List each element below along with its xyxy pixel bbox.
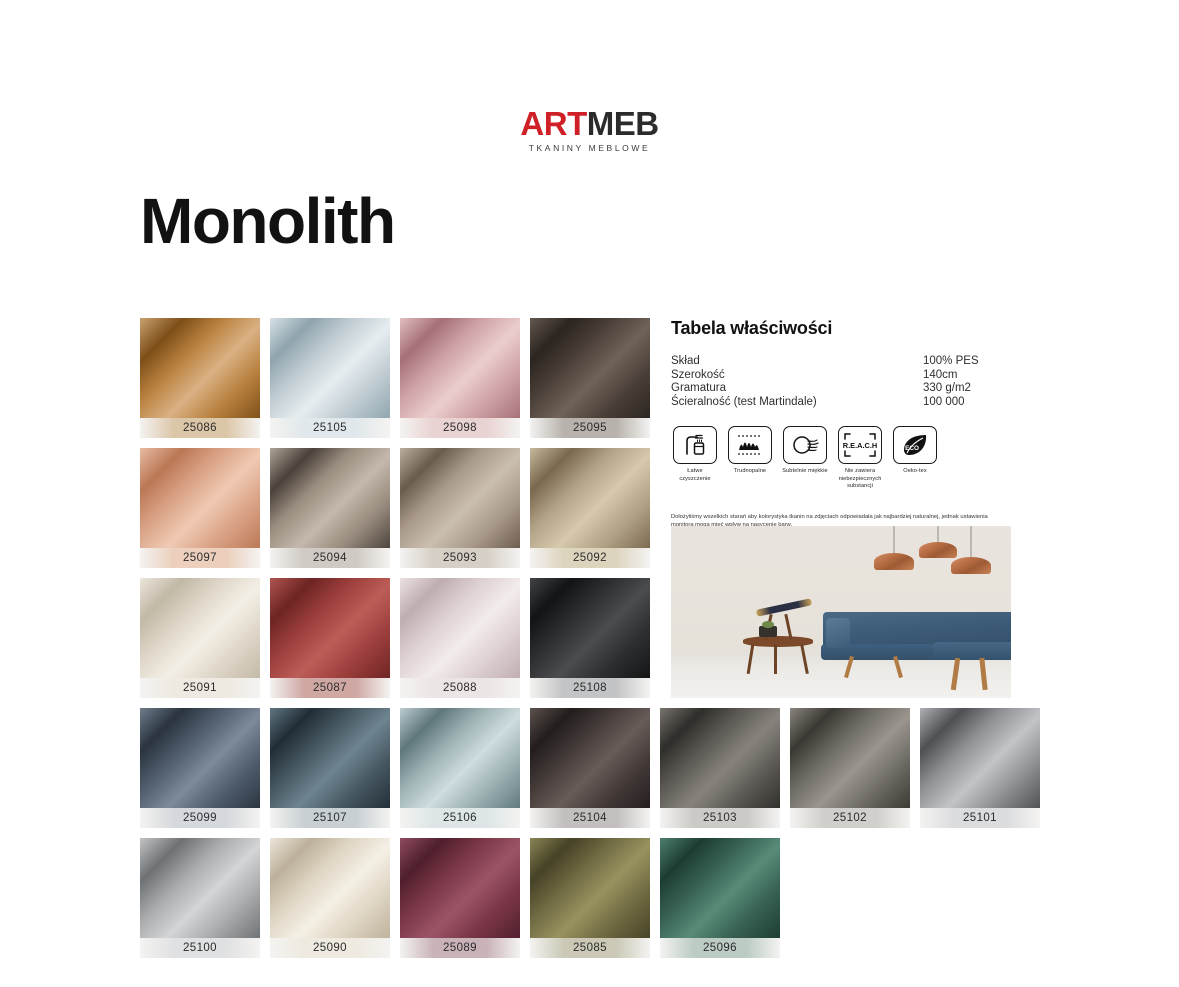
sofa-cushion [826,618,850,648]
swatch-code-label: 25108 [530,678,650,698]
swatch-code-label: 25105 [270,418,390,438]
property-row: Gramatura330 g/m2 [671,382,1043,396]
swatch-image[interactable] [140,708,260,808]
swatch-code-label: 25102 [790,808,910,828]
swatch-code-label: 25085 [530,938,650,958]
property-row: Ścieralność (test Martindale)100 000 [671,396,1043,410]
fabric-swatch[interactable]: 25105 [270,318,390,438]
property-value: 140cm [923,369,1043,383]
swatch-image[interactable] [270,318,390,418]
swatch-image[interactable] [920,708,1040,808]
fabric-swatch[interactable]: 25090 [270,838,390,958]
swatch-code-label: 25094 [270,548,390,568]
fabric-swatch[interactable]: 25093 [400,448,520,568]
swatch-image[interactable] [140,578,260,678]
swatch-code-label: 25104 [530,808,650,828]
fabric-swatch[interactable]: 25096 [660,838,780,958]
logo-wordmark: ARTMEB [0,107,1179,140]
swatch-sheen [400,578,520,678]
swatch-code-label: 25088 [400,678,520,698]
oeko-tex-eco-leaf-icon: ECO [893,426,937,464]
fabric-swatch[interactable]: 25107 [270,708,390,828]
swatch-code-label: 25101 [920,808,1040,828]
swatch-code-label: 25100 [140,938,260,958]
swatch-image[interactable] [400,708,520,808]
swatch-sheen [140,708,260,808]
swatch-image[interactable] [530,838,650,938]
interior-photo [671,526,1011,698]
swatch-code-label: 25096 [660,938,780,958]
pendant-lamp-left [874,526,914,570]
feature-caption: Trudnopalne [726,468,774,476]
fabric-swatch[interactable]: 25097 [140,448,260,568]
feature-item: Subtelnie miękkie [781,426,829,491]
feature-item: ECOOeko-tex [891,426,939,491]
fabric-swatch[interactable]: 25101 [920,708,1040,828]
flame-retardant-icon [728,426,772,464]
swatch-sheen [400,318,520,418]
fabric-swatch[interactable]: 25094 [270,448,390,568]
property-value: 100% PES [923,355,1043,369]
fabric-swatch[interactable]: 25095 [530,318,650,438]
feature-item: Łatwe czyszczenie [671,426,719,491]
property-row: Skład100% PES [671,355,1043,369]
swatch-sheen [270,318,390,418]
swatch-code-label: 25103 [660,808,780,828]
swatch-image[interactable] [530,448,650,548]
logo-art-text: ART [520,105,586,142]
property-row: Szerokość140cm [671,369,1043,383]
swatch-image[interactable] [270,838,390,938]
feature-item: Trudnopalne [726,426,774,491]
fabric-swatch[interactable]: 25099 [140,708,260,828]
swatch-code-label: 25087 [270,678,390,698]
swatch-sheen [270,838,390,938]
svg-text:R.E.A.C.H: R.E.A.C.H [843,441,877,450]
swatch-image[interactable] [530,318,650,418]
fabric-swatch[interactable]: 25098 [400,318,520,438]
swatch-image[interactable] [140,448,260,548]
properties-table: Skład100% PESSzerokość140cmGramatura330 … [671,355,1043,409]
property-name: Ścieralność (test Martindale) [671,396,817,410]
properties-heading: Tabela właściwości [671,318,1043,339]
lamp-dome [951,557,991,574]
swatch-image[interactable] [270,578,390,678]
fabric-swatch[interactable]: 25106 [400,708,520,828]
svg-text:ECO: ECO [905,445,919,452]
swatch-code-label: 25092 [530,548,650,568]
swatch-row: 2510025090250892508525096 [140,838,1040,958]
swatch-code-label: 25093 [400,548,520,568]
swatch-sheen [140,448,260,548]
swatch-sheen [530,318,650,418]
fabric-swatch[interactable]: 25089 [400,838,520,958]
swatch-sheen [660,838,780,938]
swatch-code-label: 25089 [400,938,520,958]
logo-tagline: TKANINY MEBLOWE [0,143,1179,153]
easy-clean-icon [673,426,717,464]
swatch-image[interactable] [140,838,260,938]
swatch-sheen [400,838,520,938]
fabric-swatch[interactable]: 25108 [530,578,650,698]
swatch-sheen [920,708,1040,808]
feature-caption: Subtelnie miękkie [781,468,829,476]
plant-foliage [762,621,774,628]
swatch-sheen [400,708,520,808]
swatch-sheen [270,708,390,808]
swatch-sheen [270,448,390,548]
swatch-sheen [400,448,520,548]
property-value: 330 g/m2 [923,382,1043,396]
property-value: 100 000 [923,396,1043,410]
swatch-image[interactable] [140,318,260,418]
swatch-image[interactable] [790,708,910,808]
swatch-sheen [140,318,260,418]
soft-touch-icon [783,426,827,464]
property-name: Gramatura [671,382,726,396]
swatch-code-label: 25086 [140,418,260,438]
feature-item: R.E.A.C.HNie zawiera niebezpiecznych sub… [836,426,884,491]
fabric-swatch[interactable]: 25088 [400,578,520,698]
swatch-code-label: 25097 [140,548,260,568]
swatch-image[interactable] [400,838,520,938]
swatch-sheen [140,838,260,938]
swatch-sheen [790,708,910,808]
reach-certificate-icon: R.E.A.C.H [838,426,882,464]
fabric-swatch[interactable]: 25085 [530,838,650,958]
fabric-catalogue-page: ARTMEB TKANINY MEBLOWE Monolith 25086251… [0,0,1179,987]
swatch-sheen [530,838,650,938]
swatch-code-label: 25099 [140,808,260,828]
pendant-lamp-right [951,526,991,574]
swatch-image[interactable] [270,708,390,808]
swatch-code-label: 25095 [530,418,650,438]
property-name: Szerokość [671,369,725,383]
property-name: Skład [671,355,700,369]
feature-caption: Nie zawiera niebezpiecznych substancji [836,468,884,491]
fabric-swatch[interactable]: 25092 [530,448,650,568]
fabric-swatch[interactable]: 25087 [270,578,390,698]
swatch-sheen [660,708,780,808]
swatch-sheen [140,578,260,678]
brand-logo: ARTMEB TKANINY MEBLOWE [0,107,1179,153]
swatch-sheen [270,578,390,678]
fabric-swatch[interactable]: 25104 [530,708,650,828]
sofa-bench-extension [933,642,1011,660]
swatch-row: 25099251072510625104251032510225101 [140,708,1040,828]
fabric-swatch[interactable]: 25100 [140,838,260,958]
swatch-code-label: 25098 [400,418,520,438]
fabric-swatch[interactable]: 25103 [660,708,780,828]
lamp-dome [874,553,914,570]
swatch-sheen [530,448,650,548]
feature-caption: Łatwe czyszczenie [671,468,719,483]
swatch-image[interactable] [400,318,520,418]
swatch-image[interactable] [530,708,650,808]
page-title: Monolith [140,188,395,255]
side-table-leg [774,644,777,674]
swatch-code-label: 25090 [270,938,390,958]
logo-meb-text: MEB [587,105,659,142]
fabric-swatch[interactable]: 25091 [140,578,260,698]
swatch-image[interactable] [530,578,650,678]
swatch-sheen [530,708,650,808]
swatch-image[interactable] [400,578,520,678]
swatch-code-label: 25091 [140,678,260,698]
swatch-image[interactable] [400,448,520,548]
fabric-swatch[interactable]: 25086 [140,318,260,438]
swatch-image[interactable] [660,708,780,808]
fabric-swatch[interactable]: 25102 [790,708,910,828]
feature-icons-row: Łatwe czyszczenieTrudnopalneSubtelnie mi… [671,426,1043,491]
swatch-code-label: 25107 [270,808,390,828]
swatch-image[interactable] [660,838,780,938]
swatch-image[interactable] [270,448,390,548]
swatch-code-label: 25106 [400,808,520,828]
properties-panel: Tabela właściwości Skład100% PESSzerokoś… [671,318,1043,547]
swatch-sheen [530,578,650,678]
feature-caption: Oeko-tex [891,468,939,476]
